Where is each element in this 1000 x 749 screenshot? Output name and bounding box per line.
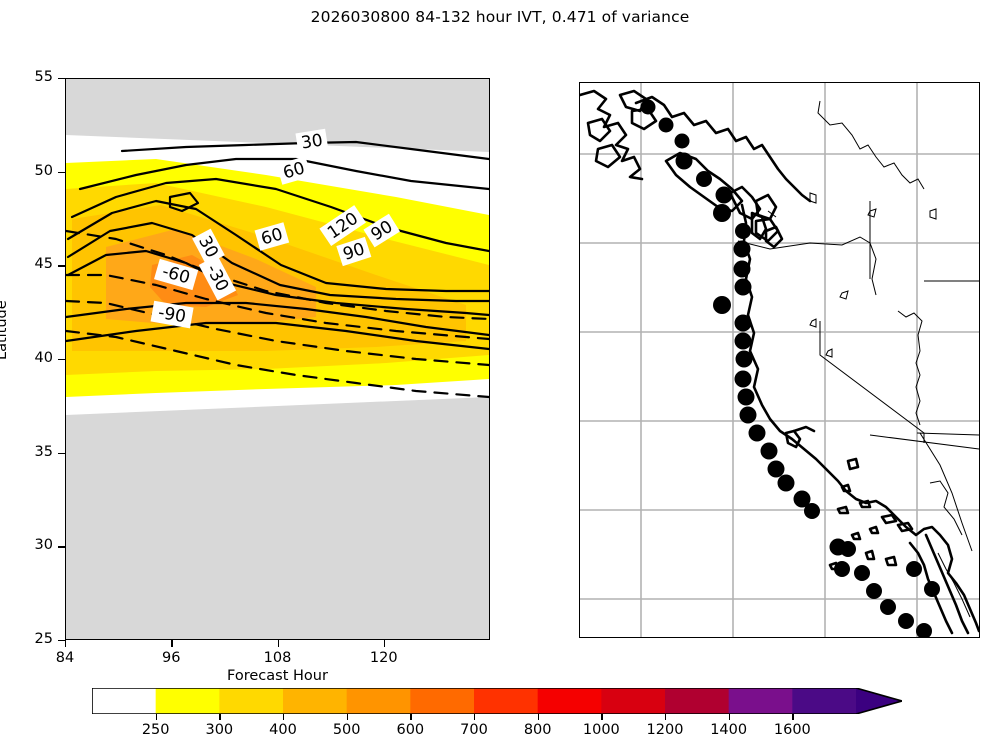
y-tick-label: 40 — [7, 350, 53, 366]
colorbar-segment — [92, 688, 156, 714]
west-coast-map — [579, 82, 980, 638]
x-tick-mark — [65, 640, 66, 647]
colorbar-tick-label: 1200 — [635, 722, 695, 738]
colorbar-swatches — [92, 688, 902, 714]
x-axis-label: Forecast Hour — [65, 668, 490, 684]
colorbar-tick-mark — [792, 714, 793, 720]
colorbar-segment — [538, 688, 602, 714]
colorbar-tick-mark — [601, 714, 602, 720]
colorbar-tick-label: 1400 — [699, 722, 759, 738]
y-tick-mark — [58, 640, 65, 641]
colorbar-tick-label: 800 — [508, 722, 568, 738]
y-tick-mark — [58, 546, 65, 547]
colorbar-segment — [601, 688, 665, 714]
page-title: 2026030800 84-132 hour IVT, 0.471 of var… — [0, 8, 1000, 26]
colorbar-segment — [283, 688, 347, 714]
colorbar-tick-label: 300 — [189, 722, 249, 738]
colorbar-segment — [410, 688, 474, 714]
y-tick-label: 30 — [7, 537, 53, 553]
colorbar-tick-label: 1000 — [571, 722, 631, 738]
colorbar-segment — [792, 688, 856, 714]
colorbar-segment — [729, 688, 793, 714]
coastline — [580, 91, 979, 633]
y-tick-mark — [58, 453, 65, 454]
colorbar-tick-label: 1600 — [762, 722, 822, 738]
y-tick-label: 25 — [7, 631, 53, 647]
hovmoller-eof-panel: 30 60 90 120 — [65, 78, 490, 640]
colorbar-tick-label: 600 — [380, 722, 440, 738]
x-tick-mark — [384, 640, 385, 647]
x-tick-label: 84 — [35, 650, 95, 666]
x-tick-mark — [171, 640, 172, 647]
y-tick-mark — [58, 78, 65, 79]
colorbar-tick-mark — [538, 714, 539, 720]
y-tick-label: 55 — [7, 69, 53, 85]
colorbar-segment — [156, 688, 220, 714]
svg-text:30: 30 — [300, 130, 325, 153]
y-tick-label: 45 — [7, 256, 53, 272]
colorbar-tick-label: 500 — [317, 722, 377, 738]
y-tick-label: 35 — [7, 444, 53, 460]
colorbar-segment — [665, 688, 729, 714]
x-tick-label: 108 — [248, 650, 308, 666]
x-tick-label: 120 — [354, 650, 414, 666]
map-plot-area — [580, 83, 979, 637]
colorbar-tick-mark — [410, 714, 411, 720]
colorbar-segment — [474, 688, 538, 714]
x-tick-label: 96 — [141, 650, 201, 666]
x-tick-mark — [278, 640, 279, 647]
colorbar-tick-mark — [219, 714, 220, 720]
colorbar-tick-label: 700 — [444, 722, 504, 738]
colorbar-tick-mark — [729, 714, 730, 720]
colorbar-tick-mark — [156, 714, 157, 720]
colorbar-tick-mark — [283, 714, 284, 720]
colorbar-segment — [219, 688, 283, 714]
y-tick-mark — [58, 172, 65, 173]
colorbar-tick-mark — [474, 714, 475, 720]
figure-root: 2026030800 84-132 hour IVT, 0.471 of var… — [0, 0, 1000, 749]
ivt-colorbar[interactable]: 2503004005006007008001000120014001600 — [92, 688, 902, 714]
y-tick-mark — [58, 265, 65, 266]
y-tick-label: 50 — [7, 163, 53, 179]
colorbar-segment — [347, 688, 411, 714]
colorbar-tick-label: 400 — [253, 722, 313, 738]
y-tick-mark — [58, 359, 65, 360]
colorbar-tick-mark — [347, 714, 348, 720]
colorbar-tick-label: 250 — [126, 722, 186, 738]
hovmoller-plot-area: 30 60 90 120 — [66, 79, 489, 639]
colorbar-tick-mark — [665, 714, 666, 720]
colorbar-extend-arrow — [856, 688, 902, 714]
